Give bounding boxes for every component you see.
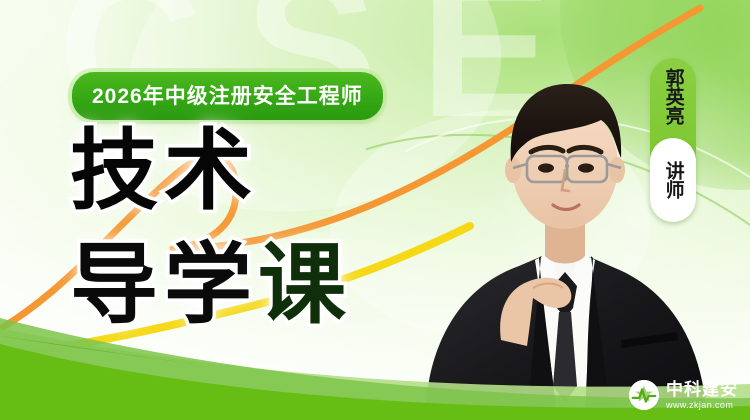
brand-name: 中科建安 bbox=[666, 381, 738, 398]
instructor-role: 讲师 bbox=[662, 161, 683, 199]
instructor-name: 郭英亮 bbox=[662, 68, 683, 125]
pulse-star-icon-glyph bbox=[629, 380, 659, 410]
brand-logo: 中科建安 www.zkjan.com bbox=[629, 380, 738, 410]
instructor-role-pill: 讲师 bbox=[650, 138, 696, 222]
course-banner: CSE bbox=[0, 0, 750, 420]
brand-logo-text: 中科建安 www.zkjan.com bbox=[666, 381, 738, 410]
pulse-star-icon bbox=[629, 380, 659, 410]
course-tag-pill: 2026年中级注册安全工程师 bbox=[72, 72, 383, 120]
headline-line-1: 技术 bbox=[70, 128, 352, 214]
headline-group: 技术 导学课 bbox=[70, 128, 352, 328]
brand-url: www.zkjan.com bbox=[666, 401, 738, 410]
instructor-badge: 郭英亮 讲师 bbox=[650, 58, 696, 222]
